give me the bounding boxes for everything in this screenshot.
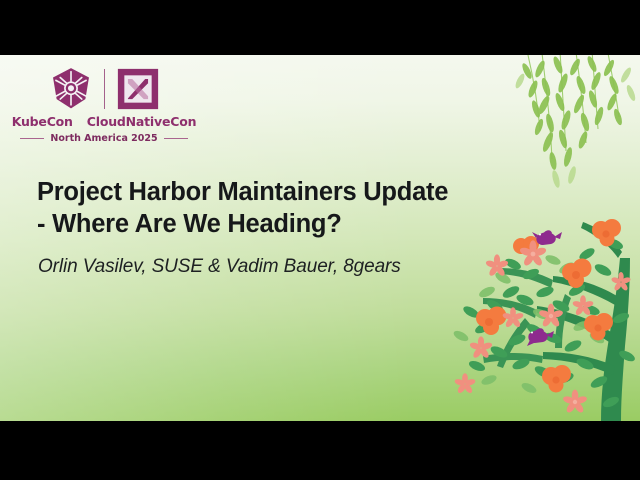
kubecon-cloudnativecon-logo: KubeCon CloudNativeCon North America 202… [20,65,188,144]
cloudnativecon-square-icon [115,66,161,112]
slide-title: Project Harbor Maintainers Update - Wher… [37,176,507,240]
logo-marks-row [20,65,188,113]
presentation-slide: KubeCon CloudNativeCon North America 202… [0,55,640,421]
tree-fruit [476,219,621,393]
logo-edition-row: North America 2025 [20,133,188,144]
logo-mark-divider [104,69,105,109]
cloudnativecon-label: CloudNativeCon [87,114,197,129]
tree-birds [527,230,562,346]
edition-rule-left [20,138,44,139]
letterbox-bar-bottom [0,421,640,480]
slide-title-line-2: - Where Are We Heading? [37,208,507,240]
logo-names-row: KubeCon CloudNativeCon [20,114,188,129]
letterbox-bar-top [0,0,640,55]
video-frame: KubeCon CloudNativeCon North America 202… [0,0,640,480]
edition-rule-right [164,138,188,139]
edition-label: North America 2025 [44,133,163,144]
kubecon-label: KubeCon [12,114,73,129]
slide-title-line-1: Project Harbor Maintainers Update [37,176,507,208]
slide-speakers: Orlin Vasilev, SUSE & Vadim Bauer, 8gear… [38,255,508,279]
kubernetes-helm-icon [48,66,94,112]
